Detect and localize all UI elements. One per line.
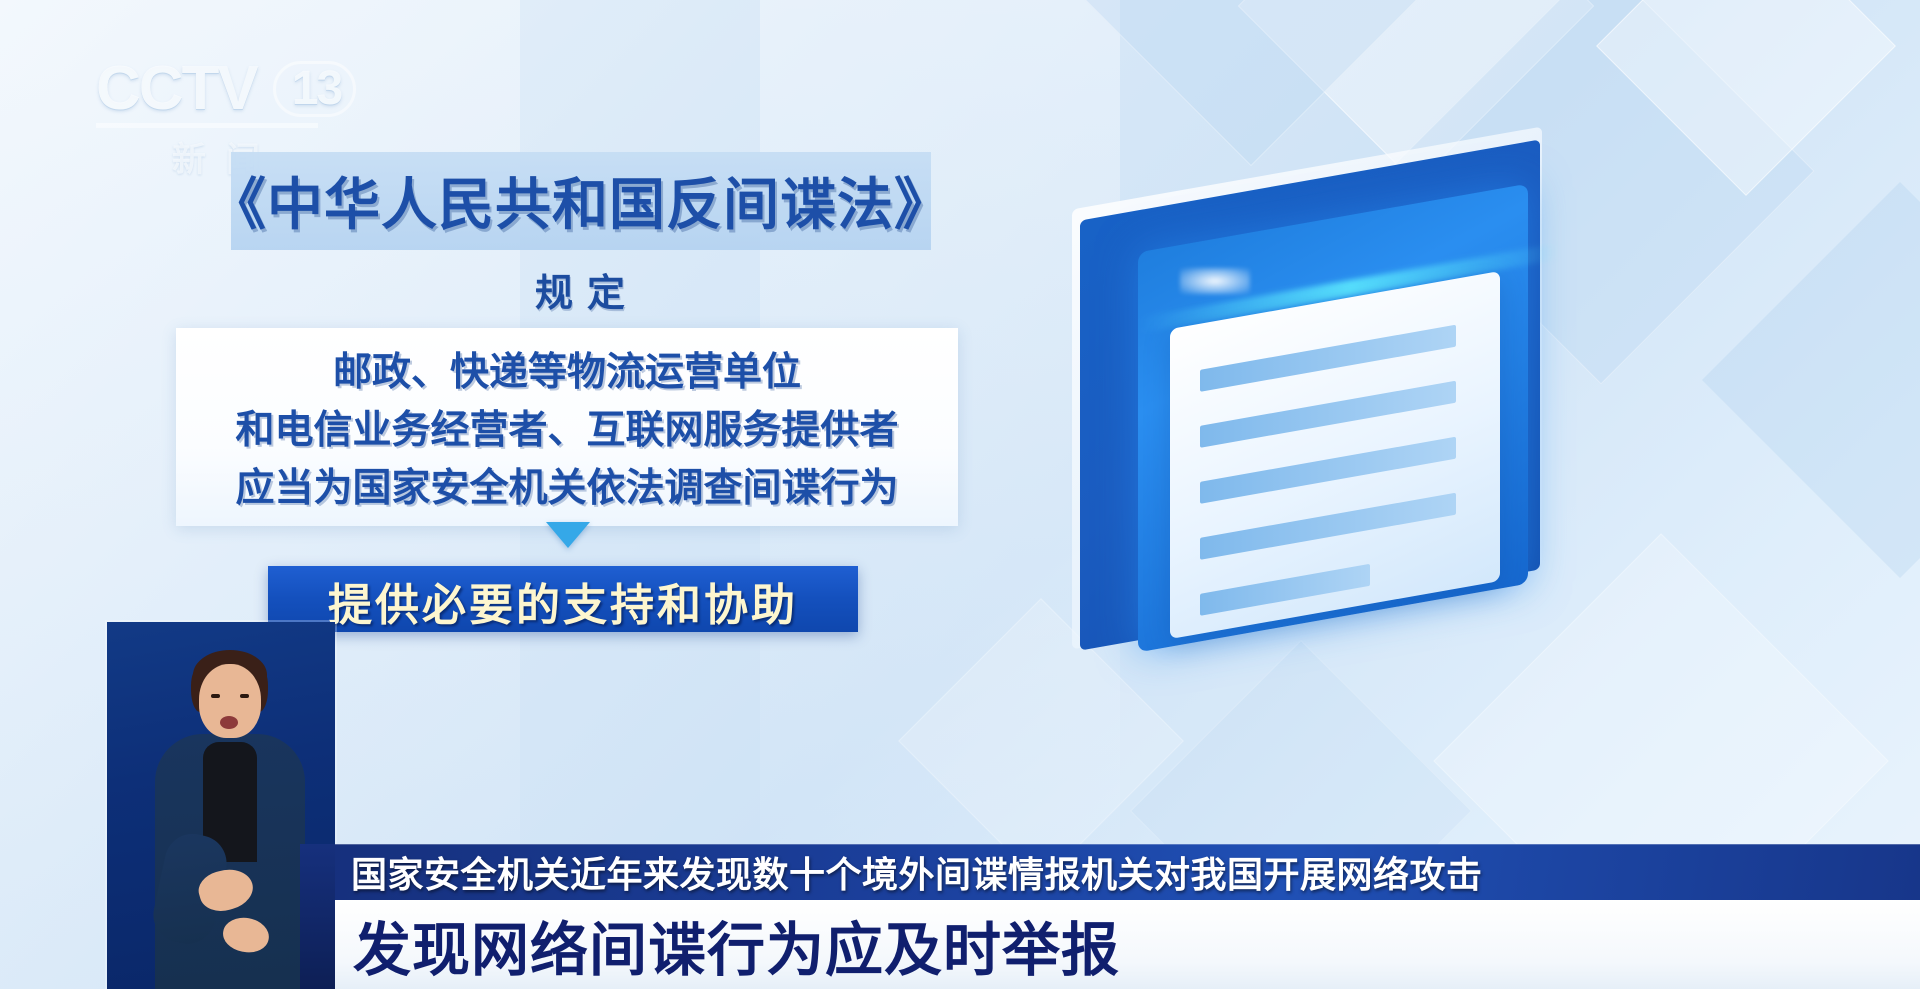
headline-bar: 发现网络间谍行为应及时举报	[335, 900, 1920, 989]
document-paper-sheet	[1170, 271, 1500, 639]
document-text-line	[1200, 381, 1456, 448]
document-text-line	[1200, 437, 1456, 504]
lower-third-spine	[300, 844, 336, 989]
presenter-eye-left	[211, 694, 220, 698]
broadcast-screen: CCTV 13 新闻 《中华人民共和国反间谍法》 规定 邮政、快递等物流运营单位…	[0, 0, 1920, 989]
presenter-eye-right	[240, 694, 249, 698]
news-ticker-text: 国家安全机关近年来发现数十个境外间谍情报机关对我国开展网络攻击	[335, 846, 1483, 898]
conclusion-text: 提供必要的支持和协助	[268, 568, 858, 634]
down-arrow-icon	[546, 522, 590, 548]
document-text-line	[1200, 325, 1456, 392]
news-ticker-bar: 国家安全机关近年来发现数十个境外间谍情报机关对我国开展网络攻击	[335, 844, 1920, 900]
document-text-line	[1200, 493, 1456, 560]
presenter-mouth	[220, 716, 238, 729]
provision-text-block: 邮政、快递等物流运营单位 和电信业务经营者、互联网服务提供者 应当为国家安全机关…	[176, 344, 958, 518]
law-title: 《中华人民共和国反间谍法》	[210, 160, 950, 241]
provision-line-2: 和电信业务经营者、互联网服务提供者	[176, 402, 958, 460]
headline-text: 发现网络间谍行为应及时举报	[335, 903, 1120, 987]
graphic-subtitle: 规定	[210, 262, 950, 317]
document-glow-highlight	[1180, 268, 1250, 294]
document-3d-graphic	[1020, 150, 1920, 710]
provision-line-3: 应当为国家安全机关依法调查间谍行为	[176, 460, 958, 518]
provision-line-1: 邮政、快递等物流运营单位	[176, 344, 958, 402]
document-text-line	[1200, 564, 1370, 616]
